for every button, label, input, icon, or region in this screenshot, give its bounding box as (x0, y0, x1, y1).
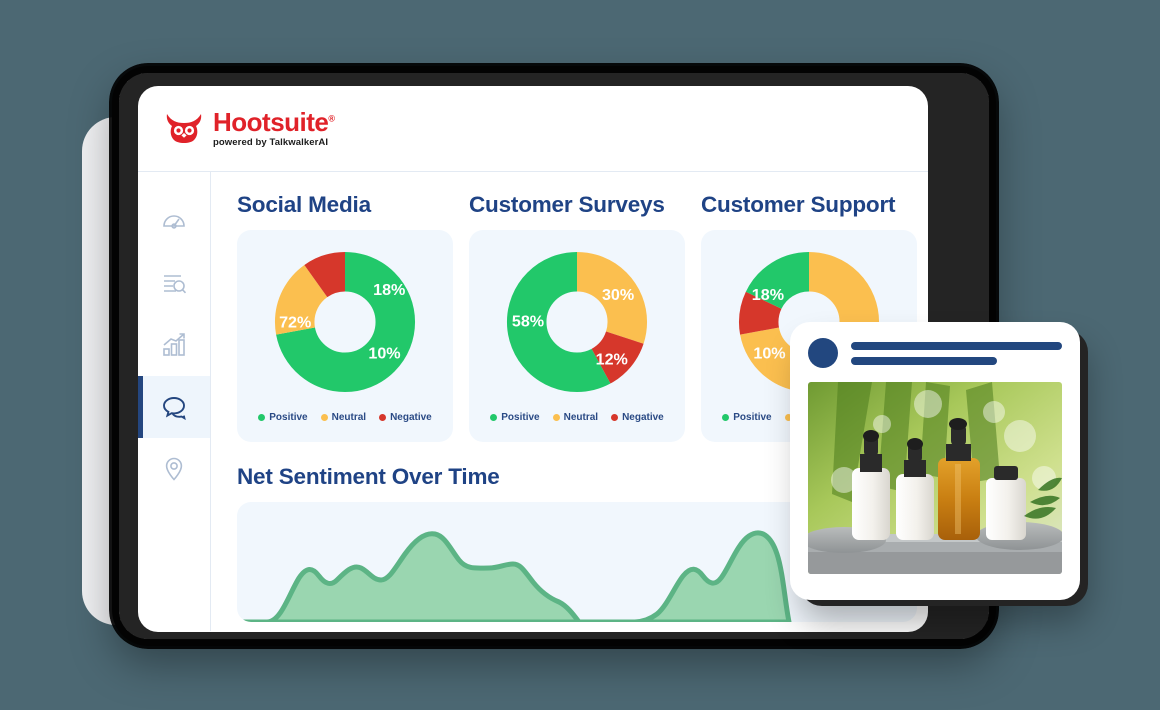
gauge-icon (161, 208, 187, 234)
legend-dot-positive (490, 414, 497, 421)
donut-label-positive: 72% (279, 314, 311, 332)
legend-label-negative: Negative (622, 412, 664, 423)
sidebar-item-dashboard[interactable] (138, 190, 210, 252)
donut-label-negative: 12% (596, 351, 628, 369)
brand-logo[interactable]: Hootsuite® powered by TalkwalkerAI (164, 109, 335, 148)
donut-label-negative: 10% (753, 344, 785, 362)
sidebar (138, 172, 211, 631)
legend-positive: Positive (722, 412, 771, 423)
chart-card-social-media[interactable]: 72% 18% 10% Positive Neutral Negative (237, 230, 453, 442)
legend-customer-surveys: Positive Neutral Negative (490, 412, 664, 423)
donut-label-positive: 58% (512, 313, 544, 331)
legend-negative: Negative (611, 412, 664, 423)
legend-dot-positive (258, 414, 265, 421)
sidebar-item-analytics[interactable] (138, 314, 210, 376)
donut-chart-social-media: 72% 18% 10% (266, 243, 424, 401)
legend-label-negative: Negative (390, 412, 432, 423)
chat-bubbles-icon (161, 394, 187, 420)
legend-dot-negative (611, 414, 618, 421)
bar-chart-icon (161, 332, 187, 358)
search-list-icon (161, 270, 187, 296)
donut-chart-customer-surveys: 58% 30% 12% (498, 243, 656, 401)
legend-dot-neutral (321, 414, 328, 421)
social-post-card[interactable] (790, 322, 1080, 600)
brand-tagline: powered by TalkwalkerAI (213, 138, 335, 148)
donut-label-neutral: 18% (373, 281, 405, 299)
sidebar-item-conversations[interactable] (138, 376, 210, 438)
location-pin-icon (161, 456, 187, 482)
section-title-social-media: Social Media (237, 192, 453, 218)
section-title-customer-surveys: Customer Surveys (469, 192, 685, 218)
legend-positive: Positive (490, 412, 539, 423)
sidebar-item-search[interactable] (138, 252, 210, 314)
legend-positive: Positive (258, 412, 307, 423)
post-title-bar (851, 342, 1062, 350)
legend-neutral: Neutral (321, 412, 366, 423)
legend-label-positive: Positive (501, 412, 539, 423)
legend-label-positive: Positive (733, 412, 771, 423)
donut-label-negative: 10% (368, 344, 400, 362)
app-header: Hootsuite® powered by TalkwalkerAI (138, 86, 928, 172)
sidebar-item-locations[interactable] (138, 438, 210, 500)
brand-name: Hootsuite (213, 107, 328, 137)
legend-label-neutral: Neutral (332, 412, 366, 423)
avatar (808, 338, 838, 368)
donut-label-neutral: 30% (602, 286, 634, 304)
post-subtitle-bar (851, 357, 997, 365)
legend-label-positive: Positive (269, 412, 307, 423)
legend-negative: Negative (379, 412, 432, 423)
post-text-placeholder (851, 342, 1062, 365)
donut-label-positive: 18% (752, 286, 784, 304)
legend-dot-negative (379, 414, 386, 421)
legend-dot-positive (722, 414, 729, 421)
registered-mark: ® (328, 114, 334, 124)
dropper-bottles-photo (808, 382, 1062, 574)
post-header (808, 338, 1062, 368)
legend-dot-neutral (553, 414, 560, 421)
section-titles-row: Social Media Customer Surveys Customer S… (237, 192, 928, 218)
chart-card-customer-surveys[interactable]: 58% 30% 12% Positive Neutral Negative (469, 230, 685, 442)
owl-icon (164, 112, 204, 146)
section-title-customer-support: Customer Support (701, 192, 917, 218)
legend-social-media: Positive Neutral Negative (258, 412, 432, 423)
screenshot-stage: Hootsuite® powered by TalkwalkerAI (0, 0, 1160, 710)
legend-label-neutral: Neutral (564, 412, 598, 423)
post-image (808, 382, 1062, 574)
legend-neutral: Neutral (553, 412, 598, 423)
